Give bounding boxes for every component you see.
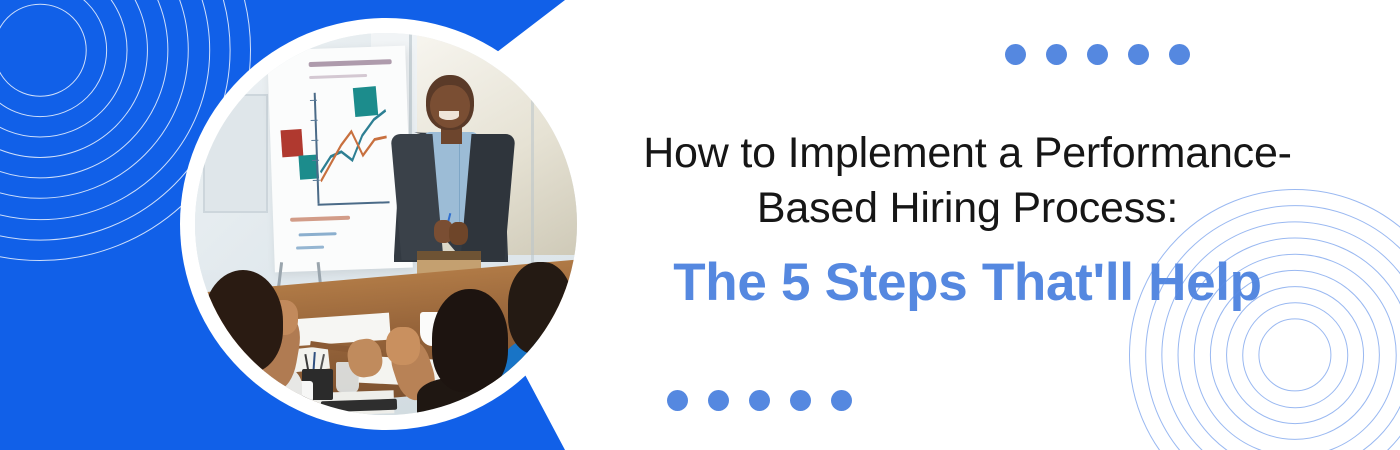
dot: [708, 390, 729, 411]
dot: [831, 390, 852, 411]
presenter-smile: [439, 111, 458, 119]
flipchart-title-line: [309, 60, 392, 68]
sticky-note-red: [281, 129, 303, 157]
dot: [1169, 44, 1190, 65]
presenter-shirt-stripe: [459, 136, 461, 232]
wall-panel: [203, 94, 268, 213]
dot: [1046, 44, 1067, 65]
flipchart-line-chart: [316, 91, 391, 204]
attendee-head: [508, 262, 573, 354]
dot-row-bottom: [667, 390, 852, 411]
attendee-hand: [386, 327, 420, 365]
banner-text-column: How to Implement a Performance- Based Hi…: [610, 0, 1370, 450]
attendee-head: [203, 270, 283, 373]
dot: [1128, 44, 1149, 65]
page-title: How to Implement a Performance- Based Hi…: [610, 126, 1325, 236]
headline-line-2: Based Hiring Process:: [610, 181, 1325, 236]
presenter-belt: [417, 251, 482, 260]
dot-row-top: [1005, 44, 1190, 65]
hero-photo: [195, 33, 577, 415]
flipchart-subtitle-line: [310, 74, 368, 79]
flipchart-handwriting: [299, 232, 338, 236]
headline-line-1: How to Implement a Performance-: [643, 129, 1292, 177]
photo-scene: [195, 33, 577, 415]
flipchart-handwriting: [296, 246, 324, 250]
page-subtitle: The 5 Steps That'll Help: [610, 252, 1325, 313]
presenter-hand: [449, 222, 468, 245]
dot: [667, 390, 688, 411]
dot: [790, 390, 811, 411]
flipchart-handwriting: [290, 216, 351, 222]
dot: [749, 390, 770, 411]
attendee-head: [432, 289, 508, 392]
hero-banner: How to Implement a Performance- Based Hi…: [0, 0, 1400, 450]
dot: [1005, 44, 1026, 65]
dot: [1087, 44, 1108, 65]
flipchart-board: [268, 46, 413, 272]
